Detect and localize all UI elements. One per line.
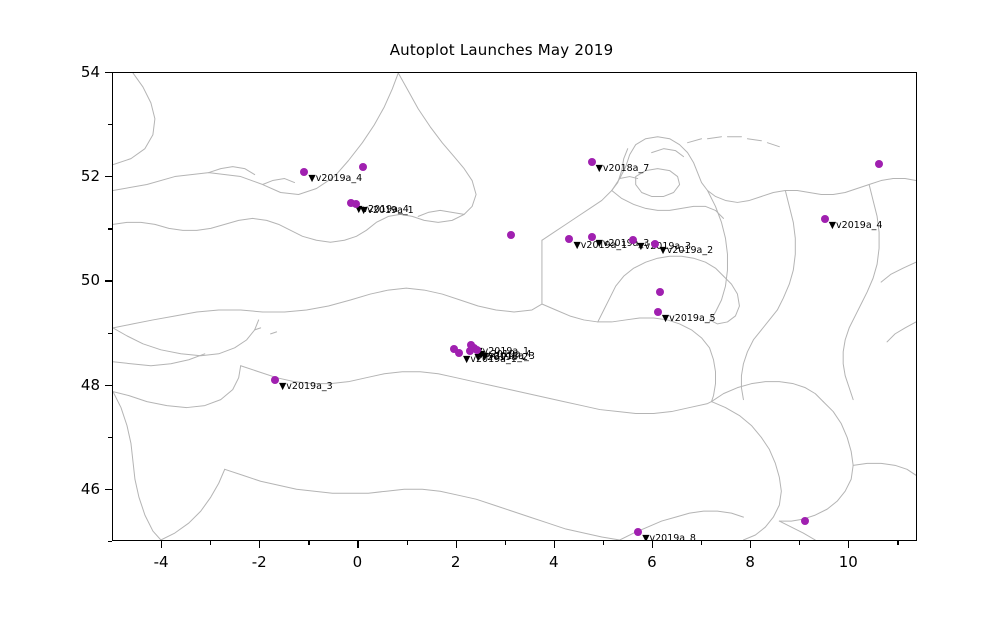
x-tick xyxy=(456,541,457,548)
scatter-point xyxy=(588,158,596,166)
x-tick xyxy=(210,541,211,545)
x-tick xyxy=(603,541,604,545)
y-tick xyxy=(108,437,112,438)
point-label: ▼v2019a_5 xyxy=(662,313,716,324)
x-tick-label: 4 xyxy=(549,553,559,571)
plot-area[interactable]: ▼v2019a_4▼v2019a_4▼v2019a_1▼v2018a_7▼v20… xyxy=(112,72,917,541)
point-label: ▼v2019a_3 xyxy=(279,381,333,392)
scatter-point xyxy=(455,349,463,357)
x-tick xyxy=(848,541,849,548)
y-tick xyxy=(105,489,112,490)
x-tick xyxy=(308,541,309,545)
x-tick xyxy=(701,541,702,545)
x-tick xyxy=(259,541,260,548)
x-tick-label: 2 xyxy=(451,553,461,571)
x-tick xyxy=(357,541,358,548)
scatter-point xyxy=(656,288,664,296)
scatter-point xyxy=(651,240,659,248)
x-tick xyxy=(505,541,506,545)
point-label: ▼v2019a_4 xyxy=(308,173,362,184)
scatter-point xyxy=(271,376,279,384)
point-label: ▼v2019a_2 xyxy=(659,245,713,256)
scatter-points-layer: ▼v2019a_4▼v2019a_4▼v2019a_1▼v2018a_7▼v20… xyxy=(113,73,916,540)
scatter-point xyxy=(588,233,596,241)
scatter-point xyxy=(654,308,662,316)
y-tick xyxy=(108,124,112,125)
x-tick-label: 6 xyxy=(647,553,657,571)
scatter-point xyxy=(875,160,883,168)
y-tick xyxy=(105,385,112,386)
scatter-point xyxy=(565,235,573,243)
y-tick-label: 50 xyxy=(60,271,100,289)
x-tick xyxy=(750,541,751,548)
y-tick xyxy=(108,541,112,542)
y-tick xyxy=(108,333,112,334)
y-tick xyxy=(105,280,112,281)
x-tick-label: -2 xyxy=(252,553,267,571)
scatter-point xyxy=(507,231,515,239)
scatter-point xyxy=(629,236,637,244)
chart-title: Autoplot Launches May 2019 xyxy=(0,41,1003,59)
point-label: ▼v2019a_1 xyxy=(360,205,414,216)
point-label: ▼v2018a_7 xyxy=(596,163,650,174)
scatter-point xyxy=(821,215,829,223)
x-tick xyxy=(799,541,800,545)
point-label: ▼v2019a_4 xyxy=(829,220,883,231)
x-tick xyxy=(554,541,555,548)
scatter-point xyxy=(634,528,642,536)
y-tick xyxy=(108,228,112,229)
x-tick-label: 10 xyxy=(839,553,858,571)
scatter-point xyxy=(359,163,367,171)
point-label: ▼v2019a_8 xyxy=(642,533,696,541)
y-tick xyxy=(105,176,112,177)
y-tick-label: 46 xyxy=(60,480,100,498)
y-tick xyxy=(105,72,112,73)
x-tick-label: 8 xyxy=(745,553,755,571)
x-tick-label: 0 xyxy=(353,553,363,571)
point-label: ▼v2018a_3 xyxy=(481,351,535,362)
scatter-point xyxy=(352,200,360,208)
scatter-point xyxy=(300,168,308,176)
y-tick-label: 54 xyxy=(60,63,100,81)
y-tick-label: 52 xyxy=(60,167,100,185)
x-tick xyxy=(407,541,408,545)
x-tick-label: -4 xyxy=(154,553,169,571)
x-tick xyxy=(897,541,898,545)
y-tick-label: 48 xyxy=(60,376,100,394)
x-tick xyxy=(161,541,162,548)
scatter-point xyxy=(473,346,481,354)
figure-canvas: Autoplot Launches May 2019 xyxy=(0,0,1003,633)
scatter-point xyxy=(801,517,809,525)
x-tick xyxy=(652,541,653,548)
